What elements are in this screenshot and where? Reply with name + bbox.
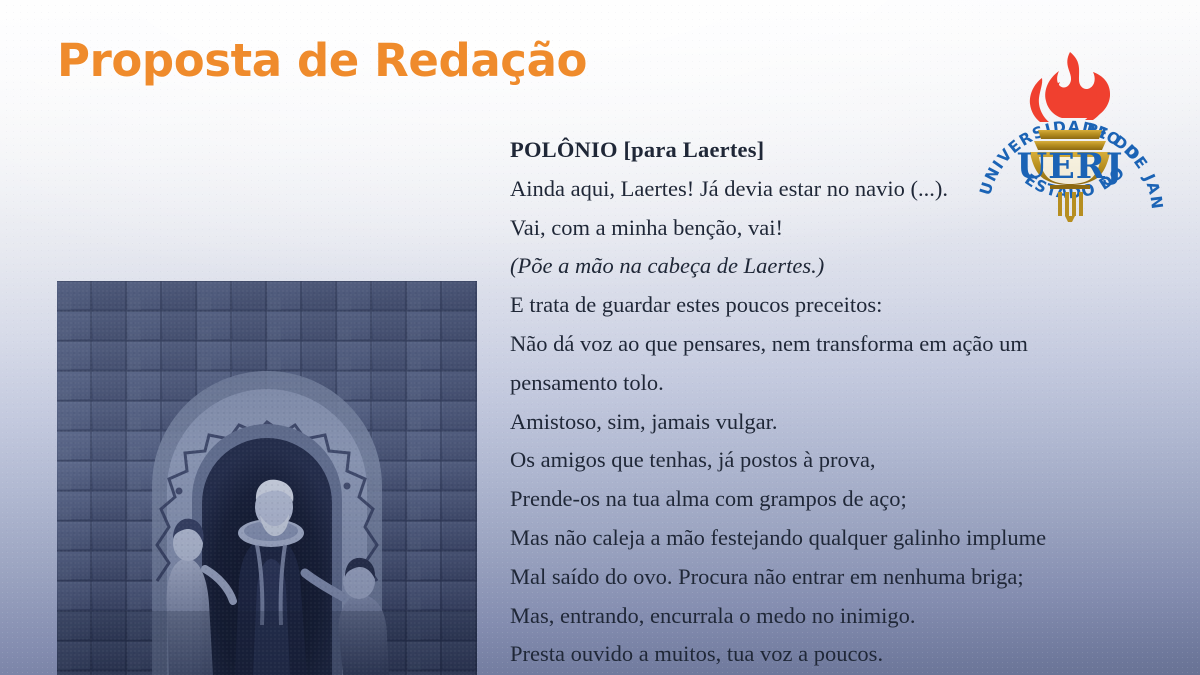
- excerpt-text-block: POLÔNIO [para Laertes]Ainda aqui, Laerte…: [510, 131, 1098, 675]
- excerpt-line: Mas, entrando, encurrala o medo no inimi…: [510, 597, 1098, 636]
- excerpt-line: Mal saído do ovo. Procura não entrar em …: [510, 558, 1098, 597]
- excerpt-line: E trata de guardar estes poucos preceito…: [510, 286, 1098, 325]
- excerpt-line: Amistoso, sim, jamais vulgar.: [510, 403, 1098, 442]
- excerpt-line: Prende-os na tua alma com grampos de aço…: [510, 480, 1098, 519]
- slide-canvas: Proposta de Redação UNIVERSIDADE DO RIO …: [0, 0, 1200, 675]
- page-title: Proposta de Redação: [57, 34, 587, 87]
- scene-photograph: Redação Online: [57, 281, 477, 675]
- excerpt-line: Ainda aqui, Laertes! Já devia estar no n…: [510, 170, 1098, 209]
- excerpt-line: Mas não caleja a mão festejando qualquer…: [510, 519, 1098, 558]
- excerpt-line: (Põe a mão na cabeça de Laertes.): [510, 247, 1098, 286]
- photograph-artwork: [57, 281, 477, 675]
- excerpt-line: POLÔNIO [para Laertes]: [510, 131, 1098, 170]
- excerpt-line: Os amigos que tenhas, já postos à prova,: [510, 441, 1098, 480]
- excerpt-line: Presta ouvido a muitos, tua voz a poucos…: [510, 635, 1098, 674]
- torch-flame-icon: [1030, 52, 1110, 122]
- excerpt-line: Não dá voz ao que pensares, nem transfor…: [510, 325, 1098, 403]
- excerpt-line: Vai, com a minha benção, vai!: [510, 209, 1098, 248]
